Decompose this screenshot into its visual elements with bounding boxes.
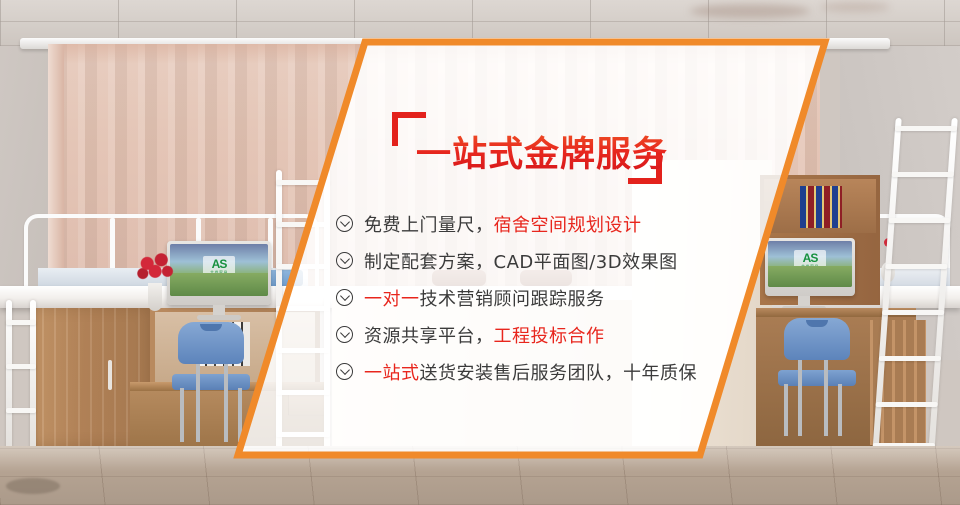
feature-text-highlight: 宿舍空间规划设计 xyxy=(494,215,642,236)
wardrobe-handle xyxy=(108,360,112,390)
feature-text-plain: 资源共享平台， xyxy=(364,326,494,347)
feature-text-highlight: 工程投标合作 xyxy=(494,326,605,347)
feature-text: 资源共享平台，工程投标合作 xyxy=(364,322,605,348)
list-item: 一站式送货安装售后服务团队，十年质保 xyxy=(336,353,766,390)
circle-chevron-down-icon xyxy=(336,363,353,380)
feature-text: 制定配套方案，CAD平面图/3D效果图 xyxy=(364,248,678,274)
feature-text: 一站式送货安装售后服务团队，十年质保 xyxy=(364,359,697,385)
feature-text-highlight: 一站式 xyxy=(364,363,420,384)
banner-content: 一站式金牌服务 免费上门量尺，宿舍空间规划设计 制定配套方案，CAD平面图/3D… xyxy=(0,0,960,505)
feature-text-plain-tail: 技术营销顾问跟踪服务 xyxy=(420,289,605,310)
feature-text: 一对一技术营销顾问跟踪服务 xyxy=(364,285,605,311)
list-item: 资源共享平台，工程投标合作 xyxy=(336,316,766,353)
list-item: 制定配套方案，CAD平面图/3D效果图 xyxy=(336,242,766,279)
banner-stage: AS 艾尚家具 AS 艾 xyxy=(0,0,960,505)
circle-chevron-down-icon xyxy=(336,289,353,306)
feature-text-plain: 免费上门量尺， xyxy=(364,215,494,236)
page-title: 一站式金牌服务 xyxy=(416,126,668,177)
feature-text-highlight: 一对一 xyxy=(364,289,420,310)
service-feature-list: 免费上门量尺，宿舍空间规划设计 制定配套方案，CAD平面图/3D效果图 一对一技… xyxy=(336,205,766,390)
feature-text-plain: 制定配套方案，CAD平面图/3D效果图 xyxy=(364,252,678,273)
circle-chevron-down-icon xyxy=(336,215,353,232)
circle-chevron-down-icon xyxy=(336,252,353,269)
circle-chevron-down-icon xyxy=(336,326,353,343)
feature-text: 免费上门量尺，宿舍空间规划设计 xyxy=(364,211,642,237)
feature-text-plain-tail: 送货安装售后服务团队，十年质保 xyxy=(420,363,698,384)
title-block: 一站式金牌服务 xyxy=(392,112,662,184)
list-item: 免费上门量尺，宿舍空间规划设计 xyxy=(336,205,766,242)
list-item: 一对一技术营销顾问跟踪服务 xyxy=(336,279,766,316)
